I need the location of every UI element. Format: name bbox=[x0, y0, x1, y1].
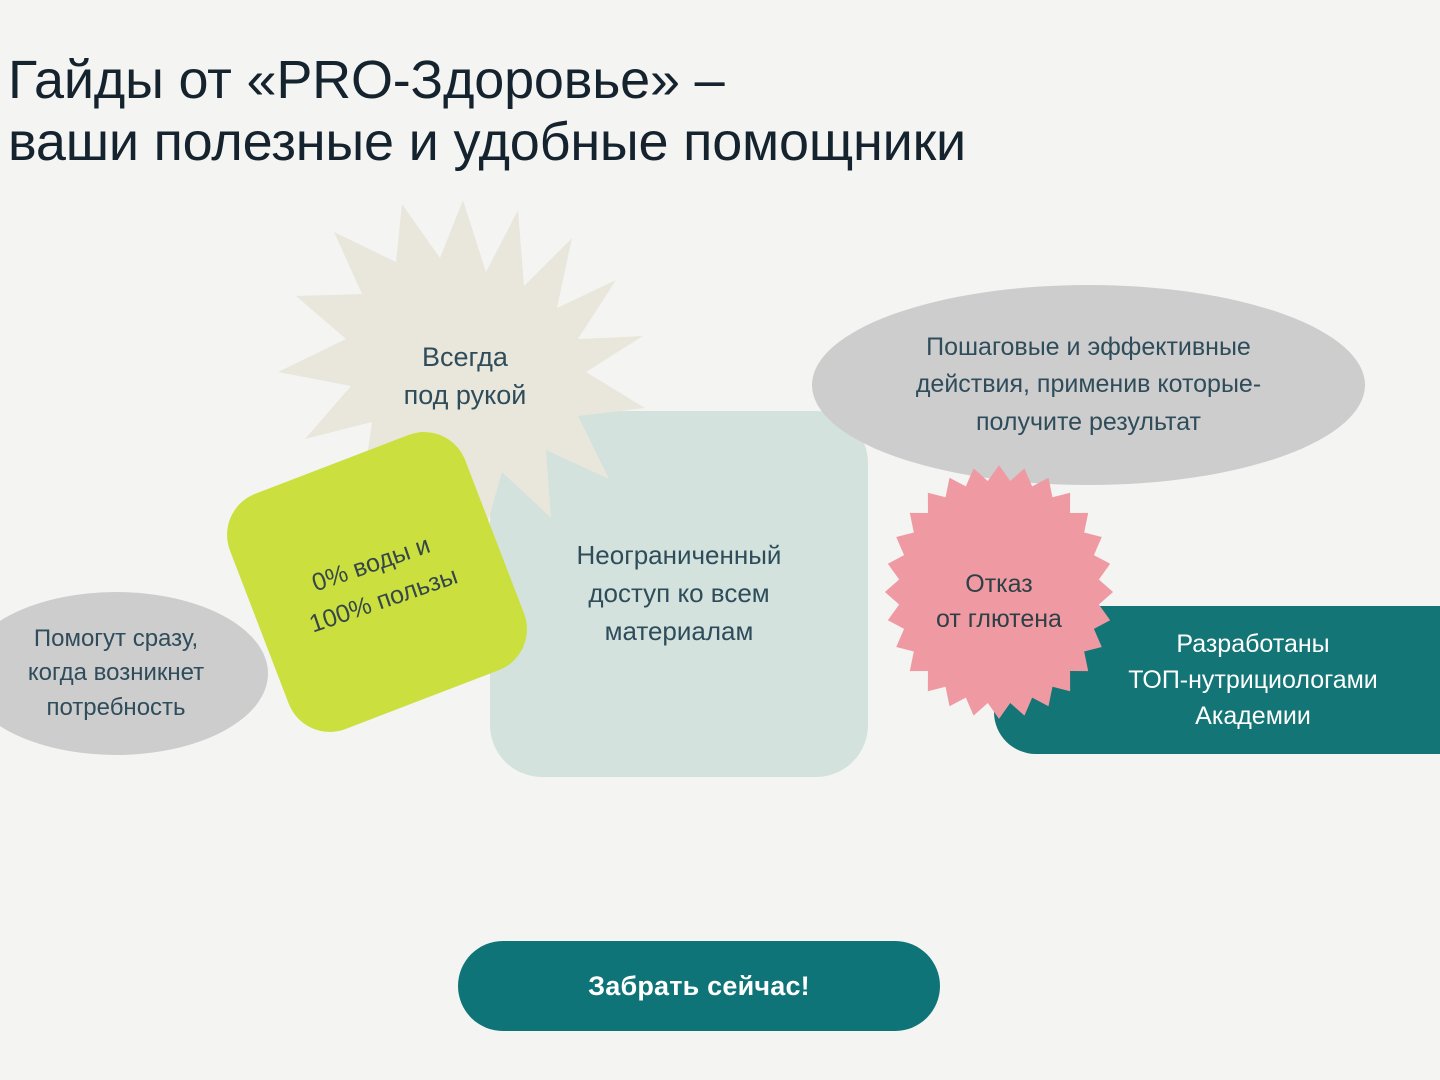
benefit-help-right-away-label: Помогут сразу, когда возникнет потребнос… bbox=[28, 622, 204, 724]
benefit-gluten-free: Отказ от глютена bbox=[883, 463, 1115, 721]
page-title: Гайды от «PRO-Здоровье» – ваши полезные … bbox=[8, 50, 1308, 173]
promo-banner: Гайды от «PRO-Здоровье» – ваши полезные … bbox=[0, 0, 1440, 1080]
benefit-step-by-step: Пошаговые и эффективные действия, примен… bbox=[812, 285, 1365, 485]
benefit-help-right-away: Помогут сразу, когда возникнет потребнос… bbox=[0, 592, 268, 755]
benefit-zero-water: 0% воды и 100% пользы bbox=[251, 456, 503, 708]
benefit-step-by-step-label: Пошаговые и эффективные действия, примен… bbox=[916, 329, 1261, 442]
benefit-always-at-hand-label: Всегда под рукой bbox=[404, 338, 527, 415]
benefit-top-nutritionists-label: Разработаны ТОП-нутрициологами Академии bbox=[1128, 626, 1378, 735]
benefit-unlimited-access-label: Неограниченный доступ ко всем материалам bbox=[577, 537, 782, 650]
claim-now-button[interactable]: Забрать сейчас! bbox=[458, 941, 940, 1031]
benefit-gluten-free-label: Отказ от глютена bbox=[936, 567, 1062, 638]
